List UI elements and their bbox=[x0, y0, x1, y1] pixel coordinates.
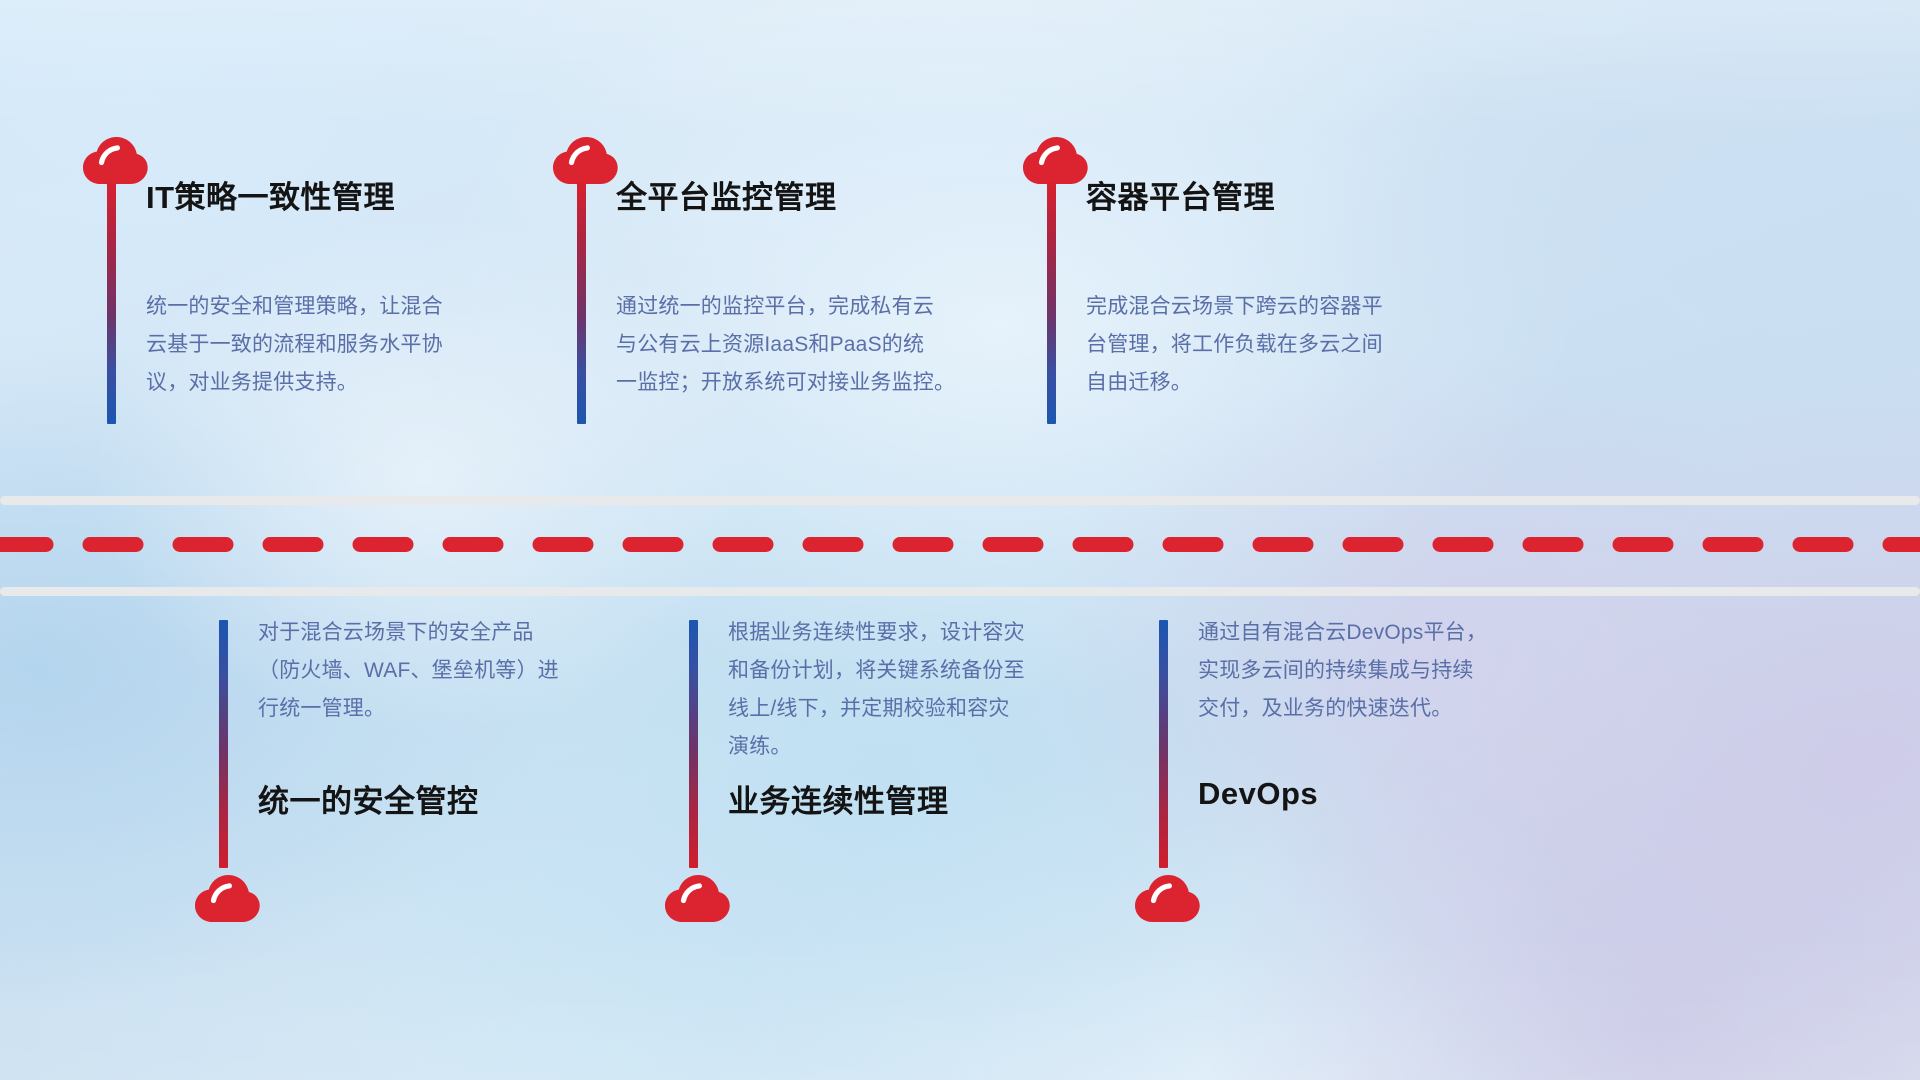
top-body-1: 统一的安全和管理策略，让混合 云基于一致的流程和服务水平协 议，对业务提供支持。 bbox=[146, 288, 566, 402]
top-pin-2 bbox=[548, 130, 622, 430]
cloud-icon bbox=[1130, 868, 1204, 924]
divider-band bbox=[0, 490, 1920, 600]
pin-stem bbox=[107, 182, 116, 424]
pin-stem bbox=[1159, 620, 1168, 868]
bottom-body-1: 对于混合云场景下的安全产品 （防火墙、WAF、堡垒机等）进 行统一管理。 bbox=[258, 614, 678, 728]
background-vignette bbox=[0, 0, 1920, 1080]
cloud-icon bbox=[548, 130, 622, 186]
top-heading-3: 容器平台管理 bbox=[1086, 172, 1275, 217]
pin-stem bbox=[689, 620, 698, 868]
bottom-pin-1 bbox=[190, 620, 264, 920]
pin-stem bbox=[219, 620, 228, 868]
bottom-body-2: 根据业务连续性要求，设计容灾 和备份计划，将关键系统备份至 线上/线下，并定期校… bbox=[728, 614, 1148, 766]
infographic-canvas: IT策略一致性管理 统一的安全和管理策略，让混合 云基于一致的流程和服务水平协 … bbox=[0, 0, 1920, 1080]
pin-stem bbox=[1047, 182, 1056, 424]
cloud-icon bbox=[78, 130, 152, 186]
bottom-pin-2 bbox=[660, 620, 734, 920]
cloud-icon bbox=[1018, 130, 1092, 186]
top-heading-2: 全平台监控管理 bbox=[616, 172, 837, 217]
top-body-3: 完成混合云场景下跨云的容器平 台管理，将工作负载在多云之间 自由迁移。 bbox=[1086, 288, 1506, 402]
background-blob-left bbox=[0, 0, 1920, 1080]
cloud-icon bbox=[660, 868, 734, 924]
bottom-body-3: 通过自有混合云DevOps平台， 实现多云间的持续集成与持续 交付，及业务的快速… bbox=[1198, 614, 1618, 728]
cloud-icon bbox=[190, 868, 264, 924]
background-blob-center bbox=[0, 0, 1920, 1080]
bottom-heading-1: 统一的安全管控 bbox=[258, 776, 479, 821]
bottom-pin-3 bbox=[1130, 620, 1204, 920]
background-blob-accent bbox=[0, 0, 1920, 1080]
top-heading-1: IT策略一致性管理 bbox=[146, 172, 395, 217]
background-blob-right bbox=[0, 0, 1920, 1080]
divider-rail-top bbox=[0, 496, 1920, 505]
top-pin-3 bbox=[1018, 130, 1092, 430]
divider-rail-bottom bbox=[0, 587, 1920, 596]
top-pin-1 bbox=[78, 130, 152, 430]
top-body-2: 通过统一的监控平台，完成私有云 与公有云上资源IaaS和PaaS的统 一监控；开… bbox=[616, 288, 1036, 402]
divider-dashed-line bbox=[0, 537, 1920, 552]
bottom-heading-3: DevOps bbox=[1198, 776, 1318, 812]
pin-stem bbox=[577, 182, 586, 424]
bottom-heading-2: 业务连续性管理 bbox=[728, 776, 949, 821]
background-base bbox=[0, 0, 1920, 1080]
